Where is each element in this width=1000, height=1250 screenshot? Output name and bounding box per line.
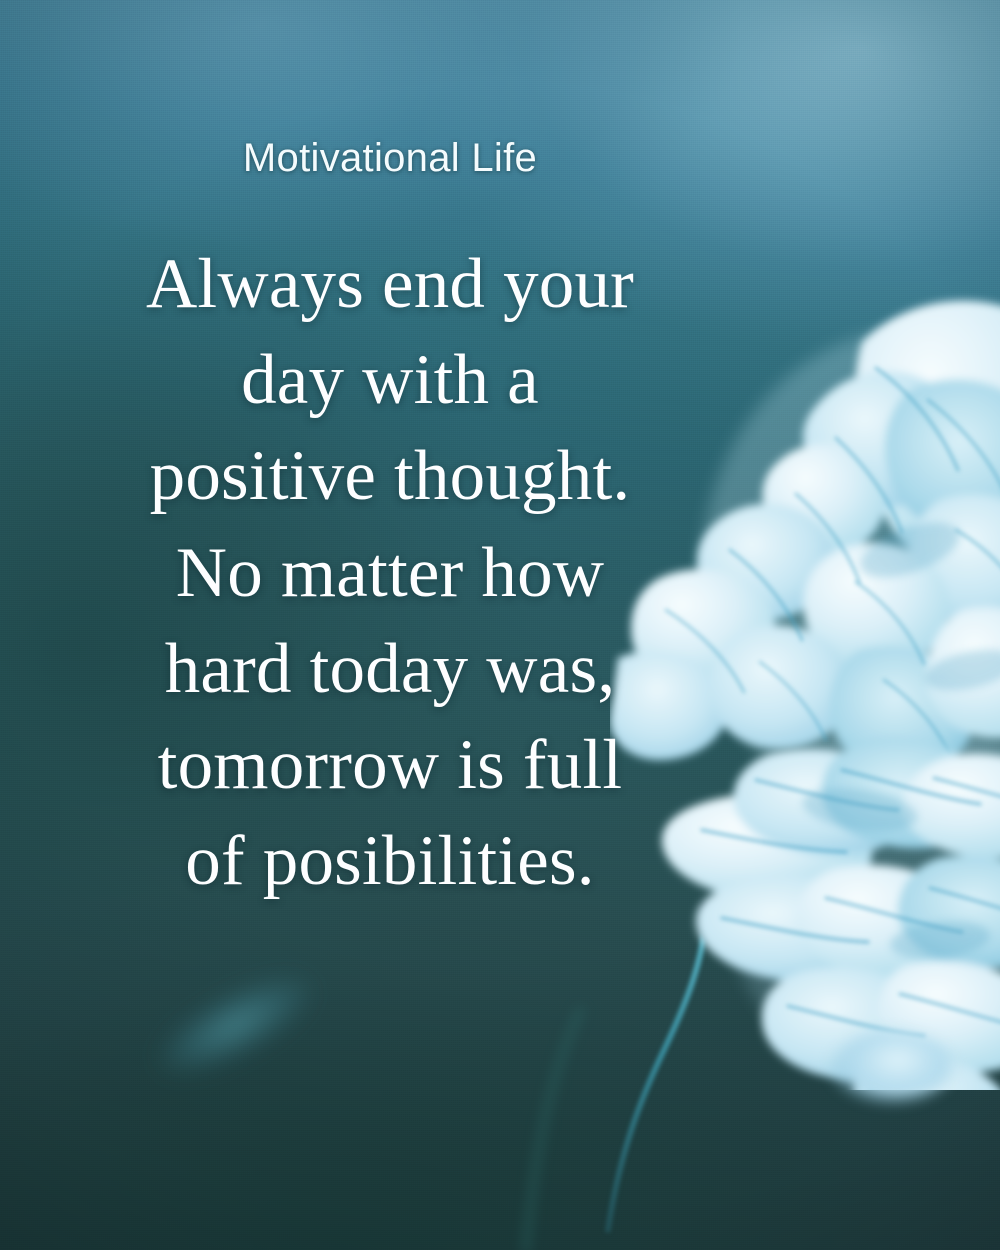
background-glow-top-right <box>0 0 1000 1250</box>
quote-poster: Motivational Life Always end your day wi… <box>0 0 1000 1250</box>
background-teal-midtone <box>0 0 1000 1250</box>
background-vignette <box>0 0 1000 1250</box>
background-film-grain <box>0 0 1000 1250</box>
flower-image <box>610 250 1000 1090</box>
flower-stem-secondary <box>430 1005 630 1250</box>
background-base-gradient <box>0 0 1000 1250</box>
quote-line: Always end your <box>0 236 780 332</box>
text-content-block: Motivational Life Always end your day wi… <box>0 0 780 909</box>
quote-line: tomorrow is full <box>0 717 780 813</box>
flower-petal-tip-lower <box>832 1032 952 1102</box>
leaf-wisp-shape <box>146 959 324 1092</box>
background-green-bottom <box>0 0 1000 1250</box>
flower-stem <box>600 900 820 1250</box>
quote-line: of posibilities. <box>0 813 780 909</box>
quote-text: Always end your day with a positive thou… <box>0 180 780 909</box>
quote-line: positive thought. <box>0 428 780 524</box>
quote-line: hard today was, <box>0 621 780 717</box>
quote-line: No matter how <box>0 525 780 621</box>
page-title: Motivational Life <box>0 0 780 180</box>
background-glow-top-left <box>0 0 1000 1250</box>
quote-line: day with a <box>0 332 780 428</box>
